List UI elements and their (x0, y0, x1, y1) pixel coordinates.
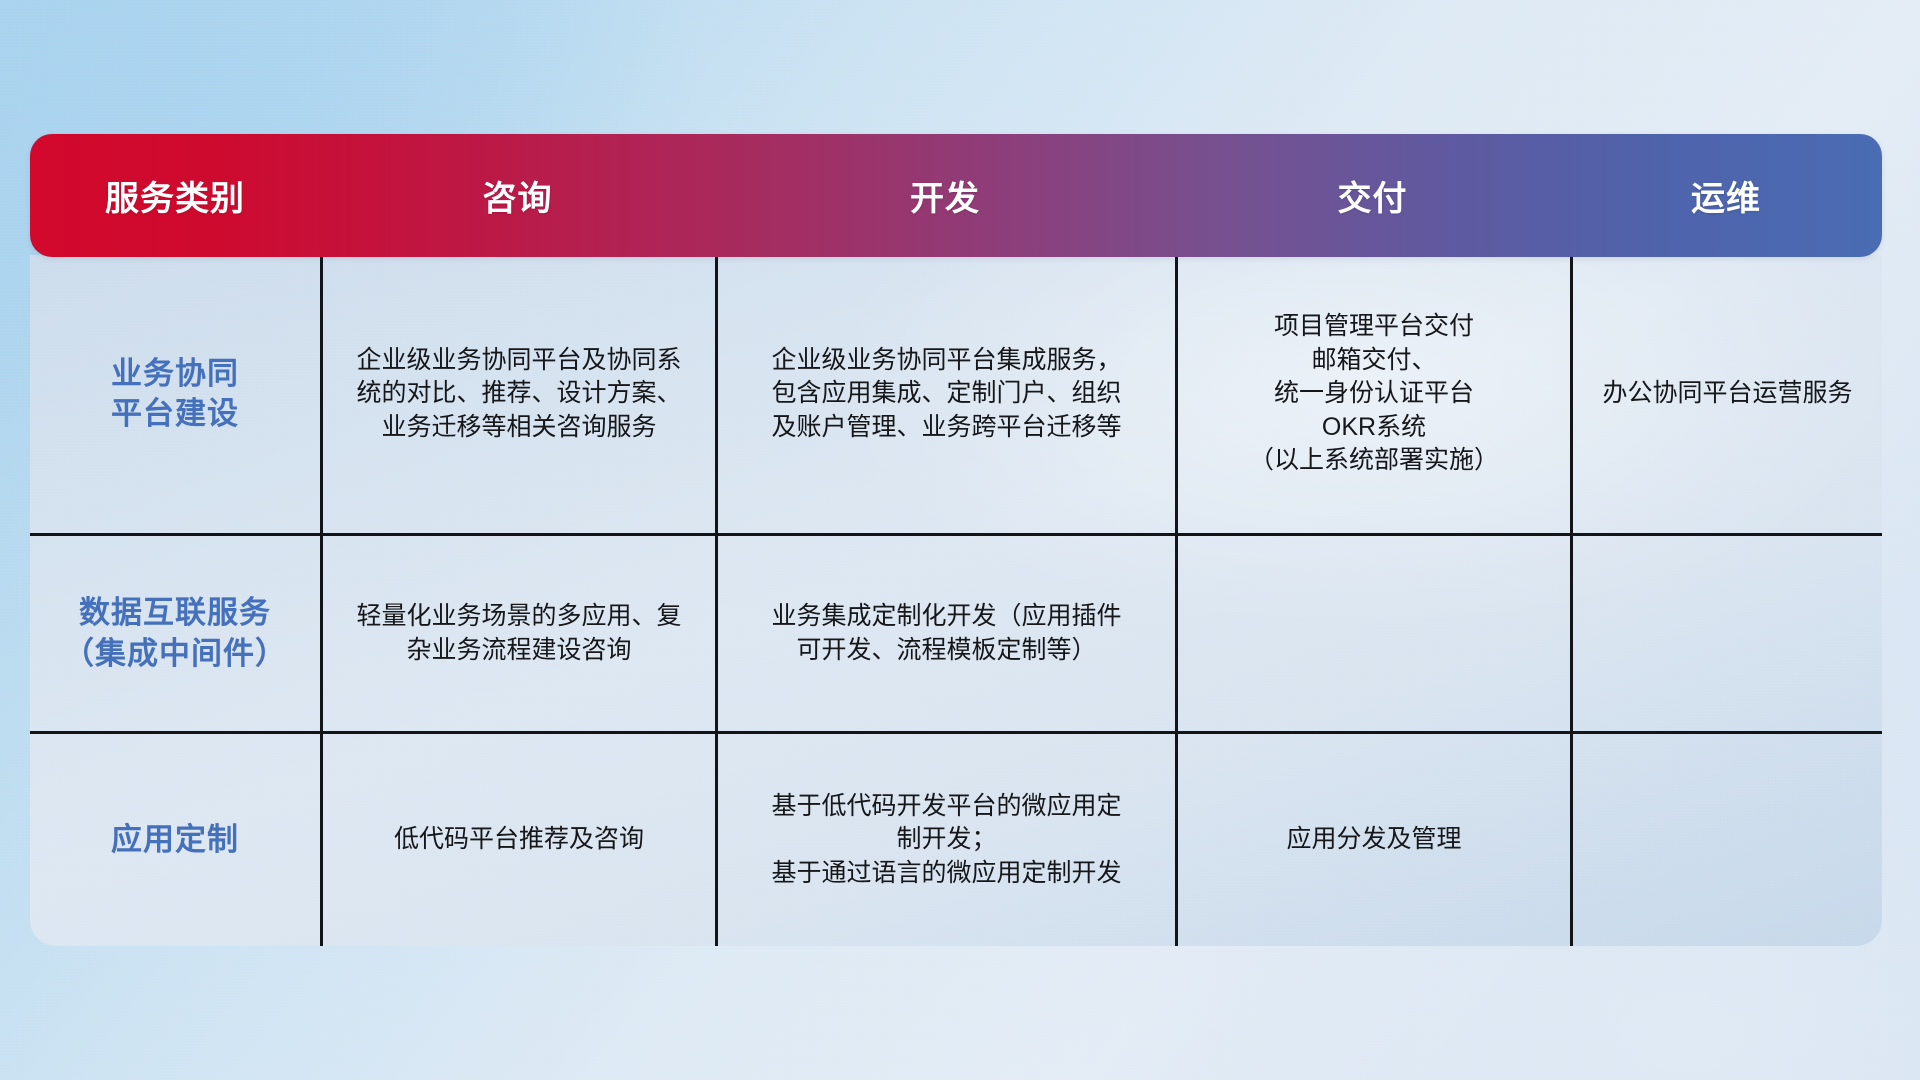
table-row: 数据互联服务 （集成中间件） 轻量化业务场景的多应用、复 杂业务流程建设咨询 业… (30, 533, 1882, 731)
cell-operations (1570, 536, 1882, 731)
cell-operations (1570, 734, 1882, 946)
cell-category: 业务协同 平台建设 (30, 255, 320, 533)
service-category-table: 服务类别 咨询 开发 交付 运维 业务协同 平台建设 企业级业务协同平台及协同系… (30, 134, 1882, 946)
column-header-category: 服务类别 (30, 171, 320, 220)
column-header-development: 开发 (715, 171, 1175, 220)
column-header-consulting: 咨询 (320, 171, 715, 220)
table-row: 应用定制 低代码平台推荐及咨询 基于低代码开发平台的微应用定 制开发； 基于通过… (30, 731, 1882, 946)
column-header-operations: 运维 (1570, 171, 1882, 220)
cell-delivery: 应用分发及管理 (1175, 734, 1570, 946)
cell-consulting: 企业级业务协同平台及协同系 统的对比、推荐、设计方案、 业务迁移等相关咨询服务 (320, 255, 715, 533)
cell-delivery (1175, 536, 1570, 731)
cell-consulting: 低代码平台推荐及咨询 (320, 734, 715, 946)
cell-development: 业务集成定制化开发（应用插件 可开发、流程模板定制等） (715, 536, 1175, 731)
page-background: 服务类别 咨询 开发 交付 运维 业务协同 平台建设 企业级业务协同平台及协同系… (0, 0, 1920, 1080)
cell-delivery: 项目管理平台交付 邮箱交付、 统一身份认证平台 OKR系统 （以上系统部署实施） (1175, 255, 1570, 533)
table-row: 业务协同 平台建设 企业级业务协同平台及协同系 统的对比、推荐、设计方案、 业务… (30, 255, 1882, 533)
cell-development: 企业级业务协同平台集成服务， 包含应用集成、定制门户、组织 及账户管理、业务跨平… (715, 255, 1175, 533)
table-header-row: 服务类别 咨询 开发 交付 运维 (30, 134, 1882, 257)
table-body: 业务协同 平台建设 企业级业务协同平台及协同系 统的对比、推荐、设计方案、 业务… (30, 255, 1882, 946)
cell-category: 数据互联服务 （集成中间件） (30, 536, 320, 731)
column-header-delivery: 交付 (1175, 171, 1570, 220)
cell-development: 基于低代码开发平台的微应用定 制开发； 基于通过语言的微应用定制开发 (715, 734, 1175, 946)
cell-consulting: 轻量化业务场景的多应用、复 杂业务流程建设咨询 (320, 536, 715, 731)
cell-category: 应用定制 (30, 734, 320, 946)
cell-operations: 办公协同平台运营服务 (1570, 255, 1882, 533)
